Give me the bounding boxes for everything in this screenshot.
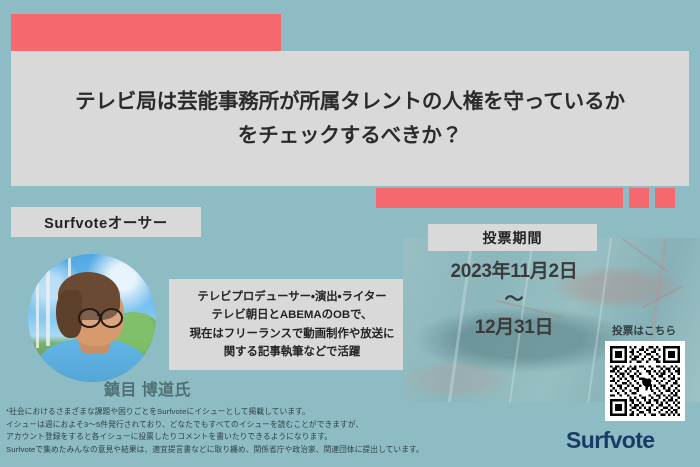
accent-bar-top: [11, 14, 281, 51]
voting-period-separator: 〜: [424, 282, 604, 318]
voting-period-label: 投票期間: [428, 224, 597, 251]
author-bio-panel: テレビプロデューサー・演出・ライター テレビ朝日とABEMAのOBで、 現在はフ…: [169, 279, 415, 370]
brand-logo: Surfvote: [566, 427, 655, 454]
accent-bar-bottom: [376, 188, 623, 208]
footer-note: *社会におけるさまざまな課題や困りごとをSurfvoteにイシューとして掲載して…: [6, 406, 646, 456]
avatar-glasses-left: [78, 308, 101, 328]
avatar-pole-3: [36, 278, 39, 348]
footer-line-3: アカウント登録をすると各イシューに投票したりコメントを書いたりできるようになりま…: [6, 431, 646, 444]
accent-chip-2: [655, 188, 675, 208]
voting-period-label-text: 投票期間: [483, 228, 543, 248]
footer-line-2: イシューは週におよそ3〜5件発行されており、どなたでもすべてのイシューを読むこと…: [6, 419, 646, 432]
author-name: 鎮目 博道氏: [104, 376, 191, 400]
accent-chip-1: [629, 188, 649, 208]
avatar-glasses-right: [100, 308, 123, 328]
bio-line-2: テレビ朝日とABEMAのOBで、: [212, 309, 373, 321]
avatar-glasses-bridge: [97, 314, 102, 316]
bio-line-3: 現在はフリーランスで動画制作や放送に: [190, 328, 395, 340]
page-title: テレビ局は芸能事務所が所属タレントの人権を守っているか をチェックするべきか？: [75, 85, 625, 151]
bio-line-1: テレビプロデューサー・演出・ライター: [197, 291, 386, 303]
author-badge: Surfvoteオーサー: [11, 207, 201, 237]
avatar-pole-1: [46, 260, 50, 346]
voting-period-dates: 2023年11月2日 〜 12月31日: [424, 262, 604, 338]
footer-line-4: Surfvoteで集めたみんなの意見や結果は、適宜提言書などに取り纏め、関係省庁…: [6, 444, 646, 457]
author-badge-label: Surfvoteオーサー: [44, 212, 168, 233]
issue-card: テレビ局は芸能事務所が所属タレントの人権を守っているか をチェックするべきか？ …: [0, 0, 700, 467]
headline-line-1: テレビ局は芸能事務所が所属タレントの人権を守っているか: [75, 90, 625, 113]
voting-period-start: 2023年11月2日: [424, 262, 604, 282]
headline-line-2: をチェックするべきか？: [238, 124, 462, 147]
bio-line-4: 関する記事執筆などで活躍: [224, 346, 360, 358]
avatar: [28, 254, 156, 382]
author-bio-text: テレビプロデューサー・演出・ライター テレビ朝日とABEMAのOBで、 現在はフ…: [190, 288, 395, 362]
voting-period-end: 12月31日: [424, 318, 604, 338]
headline-panel: テレビ局は芸能事務所が所属タレントの人権を守っているか をチェックするべきか？: [11, 51, 689, 186]
footer-line-1: *社会におけるさまざまな課題や困りごとをSurfvoteにイシューとして掲載して…: [6, 406, 646, 419]
qr-caption: 投票はこちら: [612, 323, 676, 338]
